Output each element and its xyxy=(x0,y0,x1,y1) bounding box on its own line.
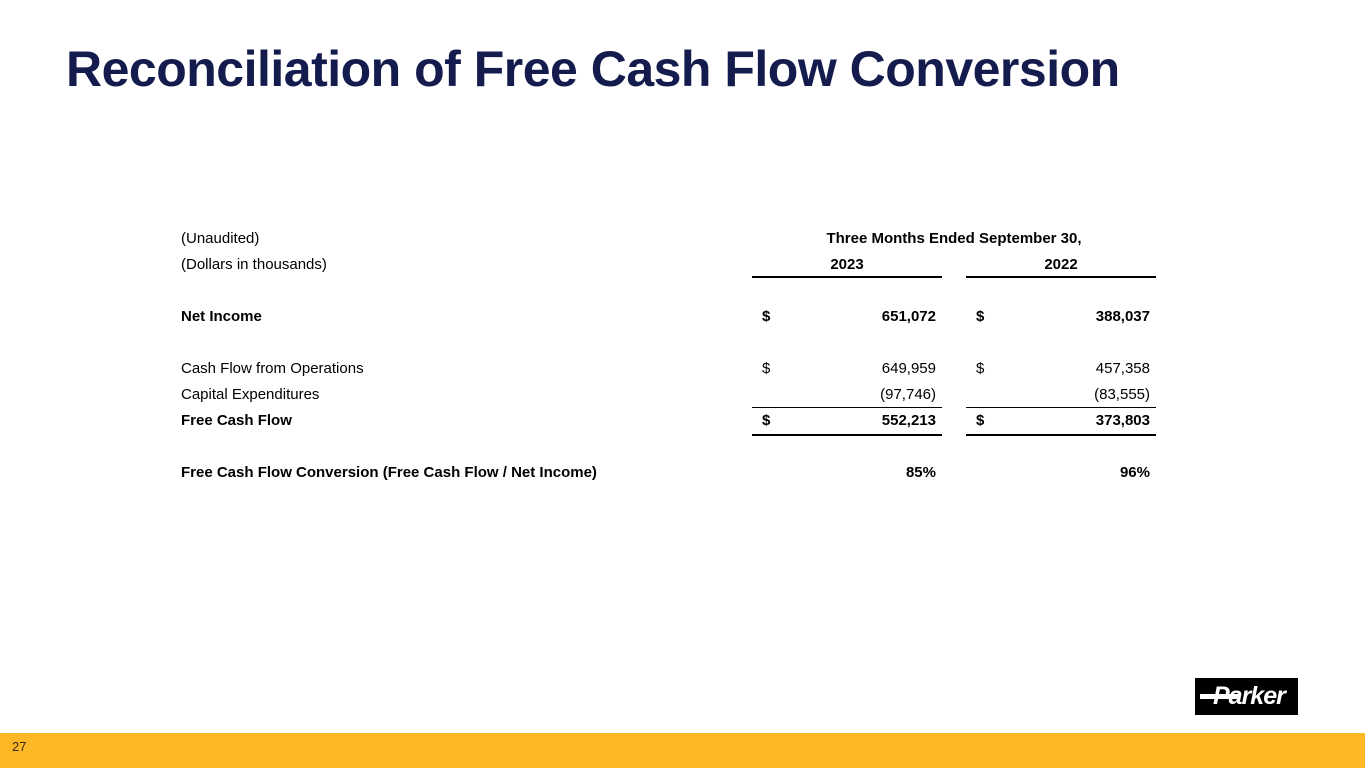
cell-value: (97,746) xyxy=(880,382,936,408)
table-row-cash-flow-from-operations: Cash Flow from Operations $ 649,959 $ 45… xyxy=(181,356,1156,382)
table-row-free-cash-flow: Free Cash Flow $ 552,213 $ 373,803 xyxy=(181,408,1156,434)
row-label-cash-flow-from-operations: Cash Flow from Operations xyxy=(181,356,364,382)
cell-cash-flow-from-operations-2023: $ 649,959 xyxy=(752,356,942,382)
column-header-year-2023: 2023 xyxy=(752,252,942,278)
spacer-after-free-cash-flow xyxy=(181,434,1156,460)
table-row-free-cash-flow-conversion: Free Cash Flow Conversion (Free Cash Flo… xyxy=(181,460,1156,486)
table-header-row-2: (Dollars in thousands) 2023 2022 xyxy=(181,252,1156,278)
currency-symbol: $ xyxy=(762,408,770,434)
cell-capital-expenditures-2023: (97,746) xyxy=(752,382,942,408)
period-header-label: Three Months Ended September 30, xyxy=(752,226,1156,252)
logo-wordmark: Parker xyxy=(1213,681,1285,712)
cell-net-income-2023: $ 651,072 xyxy=(752,304,942,330)
footer-accent-bar xyxy=(0,733,1365,768)
spacer-after-header xyxy=(181,278,1156,304)
cell-free-cash-flow-conversion-2022: 96% xyxy=(966,460,1156,486)
page-number: 27 xyxy=(12,739,26,755)
unaudited-note: (Unaudited) xyxy=(181,226,259,252)
row-label-free-cash-flow-conversion: Free Cash Flow Conversion (Free Cash Flo… xyxy=(181,460,597,486)
cell-value: 388,037 xyxy=(1096,304,1150,330)
cell-capital-expenditures-2022: (83,555) xyxy=(966,382,1156,408)
cell-free-cash-flow-2022: $ 373,803 xyxy=(966,408,1156,434)
currency-symbol: $ xyxy=(762,356,770,382)
cell-value: 85% xyxy=(906,460,936,486)
row-label-net-income: Net Income xyxy=(181,304,262,330)
total-rule-below-2022 xyxy=(966,434,1156,436)
row-label-free-cash-flow: Free Cash Flow xyxy=(181,408,292,434)
currency-symbol: $ xyxy=(762,304,770,330)
currency-symbol: $ xyxy=(976,304,984,330)
currency-symbol: $ xyxy=(976,356,984,382)
cell-value: 457,358 xyxy=(1096,356,1150,382)
cell-free-cash-flow-2023: $ 552,213 xyxy=(752,408,942,434)
cell-value: 651,072 xyxy=(882,304,936,330)
table-header-row-1: (Unaudited) Three Months Ended September… xyxy=(181,226,1156,252)
cell-value: 649,959 xyxy=(882,356,936,382)
cell-value: 552,213 xyxy=(882,408,936,434)
currency-symbol: $ xyxy=(976,408,984,434)
cell-value: 96% xyxy=(1120,460,1150,486)
page-title: Reconciliation of Free Cash Flow Convers… xyxy=(66,38,1120,100)
total-rule-below-2023 xyxy=(752,434,942,436)
cell-value: 373,803 xyxy=(1096,408,1150,434)
parker-logo: Parker xyxy=(1195,678,1298,715)
reconciliation-table: (Unaudited) Three Months Ended September… xyxy=(181,226,1156,486)
cell-cash-flow-from-operations-2022: $ 457,358 xyxy=(966,356,1156,382)
column-rule-2022 xyxy=(966,276,1156,278)
table-row-capital-expenditures: Capital Expenditures (97,746) (83,555) xyxy=(181,382,1156,408)
spacer-after-net-income xyxy=(181,330,1156,356)
row-label-capital-expenditures: Capital Expenditures xyxy=(181,382,319,408)
column-header-year-2022: 2022 xyxy=(966,252,1156,278)
table-row-net-income: Net Income $ 651,072 $ 388,037 xyxy=(181,304,1156,330)
column-rule-2023 xyxy=(752,276,942,278)
cell-value: (83,555) xyxy=(1094,382,1150,408)
cell-free-cash-flow-conversion-2023: 85% xyxy=(752,460,942,486)
units-note: (Dollars in thousands) xyxy=(181,252,327,278)
cell-net-income-2022: $ 388,037 xyxy=(966,304,1156,330)
